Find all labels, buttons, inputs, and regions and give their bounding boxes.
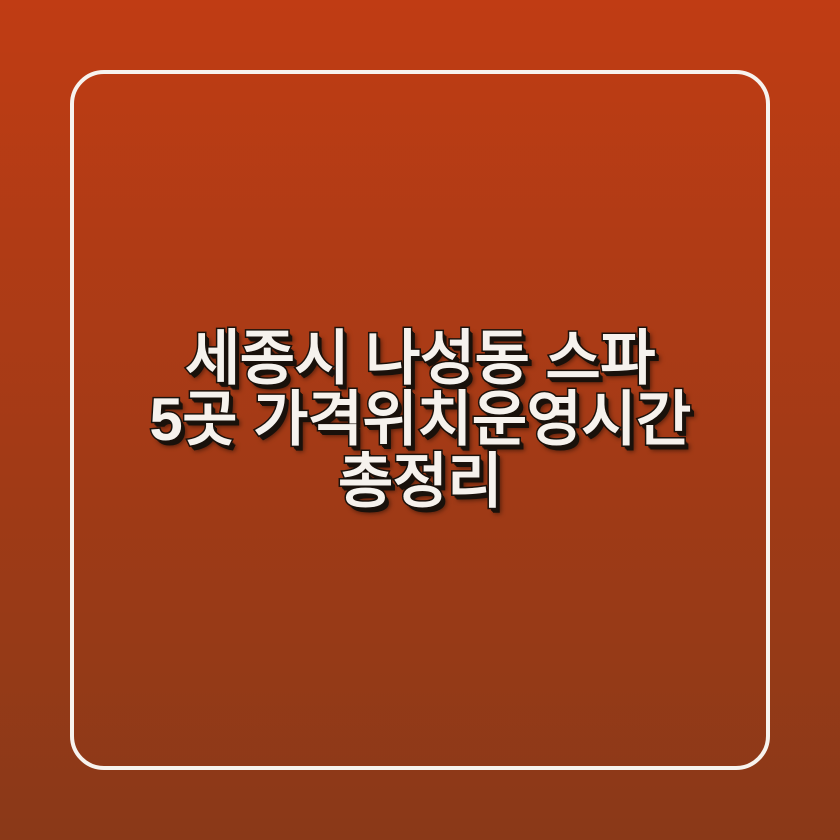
title-line-1: 세종시 나성동 스파 — [40, 328, 800, 389]
poster-canvas: 세종시 나성동 스파 5곳 가격위치운영시간 총정리 — [0, 0, 840, 840]
title-line-2: 5곳 가격위치운영시간 — [40, 389, 800, 450]
title-block: 세종시 나성동 스파 5곳 가격위치운영시간 총정리 — [0, 0, 840, 840]
title-line-3: 총정리 — [40, 451, 800, 512]
